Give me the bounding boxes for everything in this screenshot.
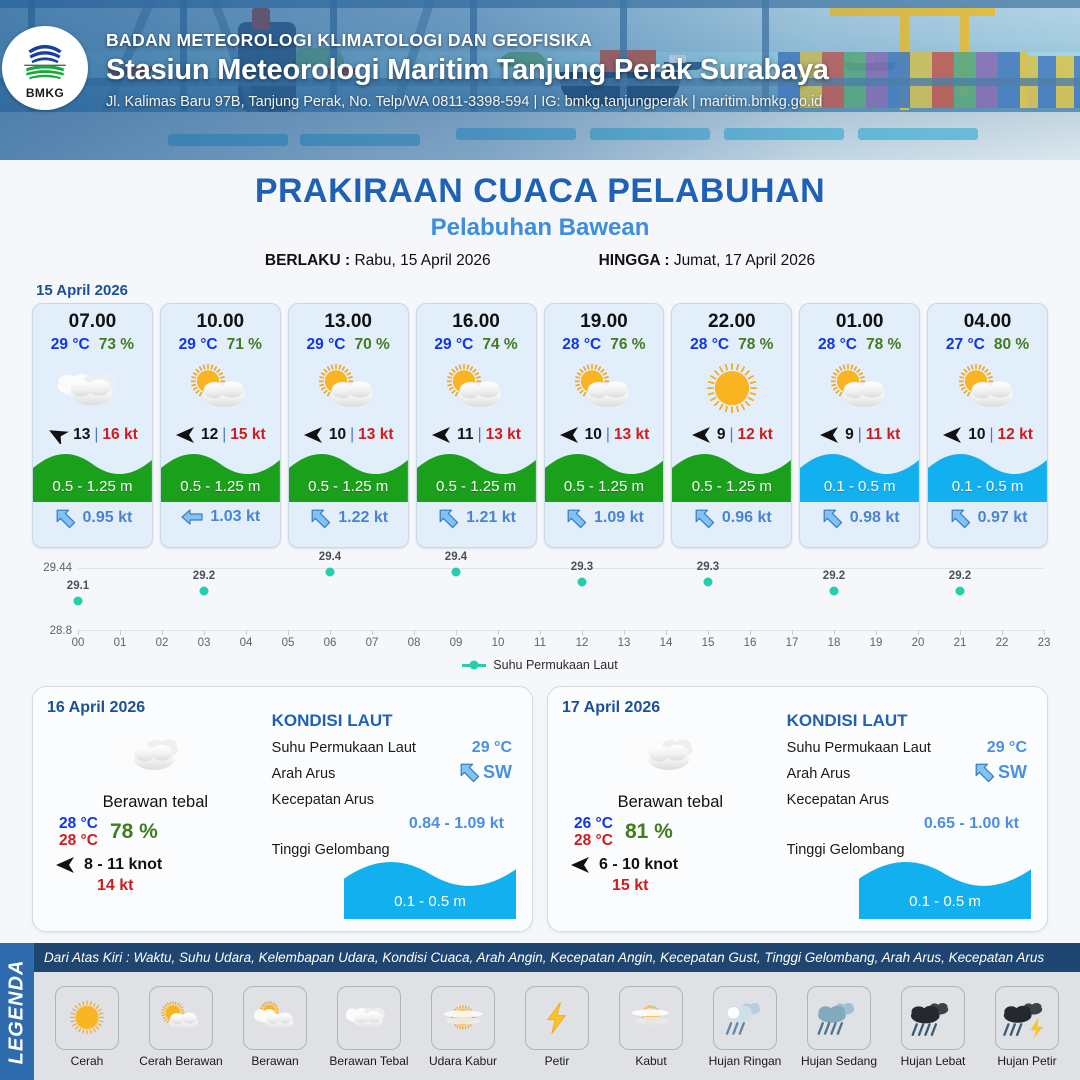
daily-temperature-humidity: 26 °C 28 °C 81 % xyxy=(562,815,779,850)
chart-x-tick-label: 15 xyxy=(702,637,715,649)
humidity: 73 % xyxy=(99,336,134,354)
legend-item-label: Hujan Petir xyxy=(984,1054,1070,1068)
chart-x-tick-label: 02 xyxy=(156,637,169,649)
current-speed-row: Kecepatan Arus xyxy=(787,791,1033,809)
wind-speed: 9 xyxy=(717,426,726,444)
chart-x-axis: 0001020304050607080910111213141516171819… xyxy=(78,630,1044,656)
wind-info: 10 | 12 kt xyxy=(928,426,1047,444)
legend-item-label: Hujan Lebat xyxy=(890,1054,976,1068)
chart-x-tick-label: 07 xyxy=(366,637,379,649)
chart-x-tick xyxy=(834,630,835,635)
berawan-tebal-icon xyxy=(340,995,398,1041)
humidity: 71 % xyxy=(227,336,262,354)
daily-temp-min: 28 °C xyxy=(59,815,98,832)
daily-temp-range: 26 °C 28 °C xyxy=(574,815,613,850)
daily-gust: 15 kt xyxy=(562,877,779,895)
daily-temperature-humidity: 28 °C 28 °C 78 % xyxy=(47,815,264,850)
legend-item-label: Cerah Berawan xyxy=(138,1054,224,1068)
forecast-card: 04.00 27 °C 80 % 10 | 12 kt xyxy=(927,303,1048,548)
wave-height-block: 0.1 - 0.5 m xyxy=(800,448,919,502)
chart-gridline: 29.44 xyxy=(78,568,1044,569)
chart-x-tick-label: 14 xyxy=(660,637,673,649)
humidity: 76 % xyxy=(610,336,645,354)
daily-weather-icon xyxy=(47,723,264,785)
wind-speed: 10 xyxy=(329,426,346,444)
chart-x-tick xyxy=(204,630,205,635)
valid-from-value: Rabu, 15 April 2026 xyxy=(354,252,490,269)
wind-separator: | xyxy=(94,426,98,444)
hujan-lebat-icon xyxy=(904,995,962,1041)
air-temperature: 29 °C xyxy=(307,336,346,354)
chart-plot-area: 29.4428.829.1 29.2 29.4 29.4 29.3 29.3 2… xyxy=(78,568,1044,630)
forecast-card: 13.00 29 °C 70 % 10 | 13 kt xyxy=(288,303,409,548)
air-temperature: 29 °C xyxy=(179,336,218,354)
cerah-berawan-icon xyxy=(561,359,647,419)
chart-y-tick-label: 28.8 xyxy=(50,625,72,637)
udara-kabur-icon xyxy=(434,995,492,1041)
legend-item-label: Kabut xyxy=(608,1054,694,1068)
current-info: 0.96 kt xyxy=(672,502,791,529)
petir-icon xyxy=(528,995,586,1041)
sea-conditions-title: KONDISI LAUT xyxy=(272,711,518,731)
current-direction-arrow xyxy=(972,761,996,783)
current-speed: 0.96 kt xyxy=(722,509,772,527)
wind-separator: | xyxy=(222,426,226,444)
berawan-tebal-icon xyxy=(49,359,135,419)
page-header: BMKG BADAN METEOROLOGI KLIMATOLOGI DAN G… xyxy=(0,0,1080,160)
wind-direction-arrow xyxy=(819,426,841,444)
daily-wind: 6 - 10 knot xyxy=(562,856,779,874)
current-direction-value: SW xyxy=(972,761,1027,783)
legend-item: Hujan Sedang xyxy=(796,986,882,1068)
bmkg-logo: BMKG xyxy=(2,26,88,110)
current-speed: 0.95 kt xyxy=(83,509,133,527)
legend-sidebar: LEGENDA xyxy=(0,943,34,1080)
daily-date: 17 April 2026 xyxy=(562,699,779,717)
hujan-ringan-icon xyxy=(716,995,774,1041)
current-info: 1.21 kt xyxy=(417,502,536,529)
chart-point-dot xyxy=(956,587,965,596)
agency-name: BADAN METEOROLOGI KLIMATOLOGI DAN GEOFIS… xyxy=(106,30,829,51)
chart-point-dot xyxy=(452,567,461,576)
chart-x-tick xyxy=(960,630,961,635)
gust-speed: 16 kt xyxy=(102,426,137,444)
legend-icon-box xyxy=(619,986,683,1050)
daily-wind: 8 - 11 knot xyxy=(47,856,264,874)
current-info: 0.97 kt xyxy=(928,502,1047,529)
contact-info: Jl. Kalimas Baru 97B, Tanjung Perak, No.… xyxy=(106,94,829,110)
cerah-berawan-icon xyxy=(817,359,903,419)
chart-x-tick-label: 04 xyxy=(240,637,253,649)
current-direction-arrow xyxy=(436,507,460,529)
daily-humidity: 78 % xyxy=(110,820,158,844)
chart-x-tick-label: 05 xyxy=(282,637,295,649)
wind-info: 9 | 12 kt xyxy=(672,426,791,444)
wave-height-value: 0.1 - 0.5 m xyxy=(928,478,1047,495)
current-direction-arrow xyxy=(308,507,332,529)
chart-x-tick xyxy=(750,630,751,635)
chart-x-tick-label: 08 xyxy=(408,637,421,649)
forecast-temp-humidity: 29 °C 74 % xyxy=(417,336,536,354)
wave-height-block: 0.5 - 1.25 m xyxy=(161,448,280,502)
legend-item: Berawan Tebal xyxy=(326,986,412,1068)
legend-item: Hujan Ringan xyxy=(702,986,788,1068)
current-info: 1.22 kt xyxy=(289,502,408,529)
wave-height-block: 0.5 - 1.25 m xyxy=(417,448,536,502)
title-section: PRAKIRAAN CUACA PELABUHAN Pelabuhan Bawe… xyxy=(0,160,1080,270)
wind-info: 12 | 15 kt xyxy=(161,426,280,444)
chart-x-tick-label: 00 xyxy=(72,637,85,649)
current-direction-arrow xyxy=(948,507,972,529)
legend-item: Udara Kabur xyxy=(420,986,506,1068)
wind-direction-arrow xyxy=(431,426,453,444)
legend-icon-box xyxy=(55,986,119,1050)
air-temperature: 29 °C xyxy=(434,336,473,354)
legend-item: Petir xyxy=(514,986,600,1068)
weather-condition-icon xyxy=(545,358,664,420)
chart-legend: Suhu Permukaan Laut xyxy=(22,658,1058,672)
daily-sea-conditions: KONDISI LAUT Suhu Permukaan Laut 29 °C A… xyxy=(779,699,1033,919)
chart-legend-label: Suhu Permukaan Laut xyxy=(493,658,617,672)
daily-wind-value: 8 - 11 knot xyxy=(84,856,162,874)
current-direction-text: SW xyxy=(998,762,1027,783)
chart-point-dot xyxy=(830,587,839,596)
forecast-temp-humidity: 29 °C 70 % xyxy=(289,336,408,354)
sst-row: Suhu Permukaan Laut 29 °C xyxy=(272,739,518,757)
legend-section: LEGENDA Dari Atas Kiri : Waktu, Suhu Uda… xyxy=(0,943,1080,1080)
legend-item: Hujan Lebat xyxy=(890,986,976,1068)
daily-temp-range: 28 °C 28 °C xyxy=(59,815,98,850)
chart-x-tick-label: 17 xyxy=(786,637,799,649)
humidity: 80 % xyxy=(994,336,1029,354)
legend-icon-box xyxy=(713,986,777,1050)
valid-from-label: BERLAKU : xyxy=(265,252,350,269)
chart-point-dot xyxy=(326,567,335,576)
chart-point-label: 29.4 xyxy=(445,551,467,563)
wind-separator: | xyxy=(478,426,482,444)
air-temperature: 28 °C xyxy=(562,336,601,354)
chart-x-tick xyxy=(330,630,331,635)
chart-x-tick xyxy=(582,630,583,635)
chart-point-dot xyxy=(704,577,713,586)
current-direction-row: Arah Arus SW xyxy=(272,765,518,783)
forecast-card: 01.00 28 °C 78 % 9 | 11 kt xyxy=(799,303,920,548)
current-direction-arrow xyxy=(820,507,844,529)
daily-wind-value: 6 - 10 knot xyxy=(599,856,678,874)
wind-speed: 12 xyxy=(201,426,218,444)
wind-speed: 10 xyxy=(585,426,602,444)
hujan-petir-icon xyxy=(998,995,1056,1041)
chart-x-tick-label: 01 xyxy=(114,637,127,649)
chart-point-label: 29.2 xyxy=(193,570,215,582)
gust-speed: 15 kt xyxy=(230,426,265,444)
current-direction-row: Arah Arus SW xyxy=(787,765,1033,783)
forecast-time: 07.00 xyxy=(33,304,152,333)
chart-x-tick xyxy=(498,630,499,635)
legend-icon-box xyxy=(525,986,589,1050)
wave-height-block: 0.5 - 1.25 m xyxy=(289,448,408,502)
legend-icon-box xyxy=(243,986,307,1050)
current-speed-label: Kecepatan Arus xyxy=(787,792,889,808)
legend-item-label: Hujan Ringan xyxy=(702,1054,788,1068)
air-temperature: 27 °C xyxy=(946,336,985,354)
current-direction-arrow xyxy=(180,507,204,527)
chart-x-tick-label: 20 xyxy=(912,637,925,649)
gust-speed: 13 kt xyxy=(486,426,521,444)
bmkg-logo-mark xyxy=(19,37,71,85)
legend-item: Hujan Petir xyxy=(984,986,1070,1068)
forecast-time: 19.00 xyxy=(545,304,664,333)
daily-wave-value: 0.1 - 0.5 m xyxy=(344,893,516,910)
sst-chart: 29.4428.829.1 29.2 29.4 29.4 29.3 29.3 2… xyxy=(22,558,1058,678)
current-speed: 1.09 kt xyxy=(594,509,644,527)
legend-item-label: Berawan Tebal xyxy=(326,1054,412,1068)
wind-direction-arrow xyxy=(570,856,592,874)
current-direction-label: Arah Arus xyxy=(272,766,336,782)
wave-height-value: 0.5 - 1.25 m xyxy=(161,478,280,495)
forecast-temp-humidity: 28 °C 78 % xyxy=(800,336,919,354)
wind-direction-arrow xyxy=(691,426,713,444)
gust-speed: 12 kt xyxy=(737,426,772,444)
weather-condition-icon xyxy=(289,358,408,420)
legend-sidebar-title: LEGENDA xyxy=(6,959,29,1064)
berawan-tebal-icon xyxy=(627,725,713,783)
chart-x-tick-label: 11 xyxy=(534,637,546,649)
validity-row: BERLAKU : Rabu, 15 April 2026 HINGGA : J… xyxy=(0,252,1080,270)
kabut-icon xyxy=(622,995,680,1041)
gust-speed: 12 kt xyxy=(998,426,1033,444)
daily-temp-max: 28 °C xyxy=(574,832,613,849)
station-name: Stasiun Meteorologi Maritim Tanjung Pera… xyxy=(106,54,829,87)
forecast-time: 10.00 xyxy=(161,304,280,333)
wind-info: 10 | 13 kt xyxy=(545,426,664,444)
chart-x-tick-label: 12 xyxy=(576,637,589,649)
forecast-time: 04.00 xyxy=(928,304,1047,333)
legend-item-label: Berawan xyxy=(232,1054,318,1068)
wind-direction-arrow xyxy=(942,426,964,444)
chart-point-label: 29.2 xyxy=(823,570,845,582)
sst-row: Suhu Permukaan Laut 29 °C xyxy=(787,739,1033,757)
chart-legend-marker xyxy=(462,664,486,667)
chart-x-tick-label: 22 xyxy=(996,637,1009,649)
forecast-date-label: 15 April 2026 xyxy=(36,282,1080,299)
chart-x-tick xyxy=(372,630,373,635)
chart-point-label: 29.3 xyxy=(697,561,719,573)
cerah-icon xyxy=(689,359,775,419)
forecast-time: 01.00 xyxy=(800,304,919,333)
weather-condition-icon xyxy=(33,358,152,420)
chart-x-tick xyxy=(162,630,163,635)
wave-height-block: 0.5 - 1.25 m xyxy=(33,448,152,502)
forecast-temp-humidity: 28 °C 76 % xyxy=(545,336,664,354)
legend-item-label: Hujan Sedang xyxy=(796,1054,882,1068)
forecast-card: 10.00 29 °C 71 % 12 | 15 kt xyxy=(160,303,281,548)
weather-condition-icon xyxy=(417,358,536,420)
berawan-tebal-icon xyxy=(112,725,198,783)
wind-separator: | xyxy=(350,426,354,444)
wind-info: 13 | 16 kt xyxy=(33,426,152,444)
cerah-berawan-icon xyxy=(305,359,391,419)
daily-condition: Berawan tebal xyxy=(562,793,779,812)
wind-separator: | xyxy=(990,426,994,444)
forecast-card: 16.00 29 °C 74 % 11 | 13 kt xyxy=(416,303,537,548)
legend-item: Cerah Berawan xyxy=(138,986,224,1068)
forecast-time: 16.00 xyxy=(417,304,536,333)
current-info: 1.09 kt xyxy=(545,502,664,529)
chart-x-tick-label: 19 xyxy=(870,637,883,649)
sst-value: 29 °C xyxy=(472,739,512,757)
forecast-temp-humidity: 29 °C 71 % xyxy=(161,336,280,354)
chart-x-tick xyxy=(876,630,877,635)
bmkg-logo-text: BMKG xyxy=(26,86,64,100)
forecast-temp-humidity: 27 °C 80 % xyxy=(928,336,1047,354)
wave-height-value: 0.5 - 1.25 m xyxy=(545,478,664,495)
current-speed-value: 0.84 - 1.09 kt xyxy=(272,815,518,833)
valid-to-value: Jumat, 17 April 2026 xyxy=(674,252,815,269)
legend-icon-box xyxy=(995,986,1059,1050)
cerah-berawan-icon xyxy=(433,359,519,419)
humidity: 78 % xyxy=(738,336,773,354)
forecast-card-list: 07.00 29 °C 73 % 13 | xyxy=(0,303,1080,548)
valid-to-label: HINGGA : xyxy=(599,252,670,269)
legend-main: Dari Atas Kiri : Waktu, Suhu Udara, Kele… xyxy=(34,943,1080,1080)
chart-point-dot xyxy=(74,596,83,605)
wind-direction-arrow xyxy=(303,426,325,444)
wind-direction-arrow xyxy=(175,426,197,444)
port-name: Pelabuhan Bawean xyxy=(0,214,1080,242)
daily-temp-min: 26 °C xyxy=(574,815,613,832)
daily-condition: Berawan tebal xyxy=(47,793,264,812)
wind-info: 10 | 13 kt xyxy=(289,426,408,444)
current-direction-value: SW xyxy=(457,761,512,783)
valid-from: BERLAKU : Rabu, 15 April 2026 xyxy=(265,252,491,270)
daily-humidity: 81 % xyxy=(625,820,673,844)
chart-point-label: 29.2 xyxy=(949,570,971,582)
humidity: 74 % xyxy=(482,336,517,354)
forecast-temp-humidity: 28 °C 78 % xyxy=(672,336,791,354)
weather-condition-icon xyxy=(800,358,919,420)
forecast-time: 13.00 xyxy=(289,304,408,333)
wind-speed: 13 xyxy=(73,426,90,444)
chart-point-label: 29.4 xyxy=(319,551,341,563)
air-temperature: 29 °C xyxy=(51,336,90,354)
wave-height-value: 0.5 - 1.25 m xyxy=(672,478,791,495)
gust-speed: 13 kt xyxy=(614,426,649,444)
forecast-card: 07.00 29 °C 73 % 13 | xyxy=(32,303,153,548)
wave-height-value: 0.5 - 1.25 m xyxy=(289,478,408,495)
wind-info: 11 | 13 kt xyxy=(417,426,536,444)
chart-x-tick-label: 06 xyxy=(324,637,337,649)
current-direction-arrow xyxy=(692,507,716,529)
chart-x-tick xyxy=(78,630,79,635)
sst-label: Suhu Permukaan Laut xyxy=(272,740,416,756)
gust-speed: 11 kt xyxy=(866,426,900,444)
chart-x-tick xyxy=(456,630,457,635)
wind-separator: | xyxy=(606,426,610,444)
current-speed: 0.98 kt xyxy=(850,509,900,527)
chart-x-tick xyxy=(918,630,919,635)
wave-height-value: 0.1 - 0.5 m xyxy=(800,478,919,495)
valid-to: HINGGA : Jumat, 17 April 2026 xyxy=(599,252,816,270)
legend-note: Dari Atas Kiri : Waktu, Suhu Udara, Kele… xyxy=(34,943,1080,972)
hujan-sedang-icon xyxy=(810,995,868,1041)
daily-date: 16 April 2026 xyxy=(47,699,264,717)
daily-sea-conditions: KONDISI LAUT Suhu Permukaan Laut 29 °C A… xyxy=(264,699,518,919)
air-temperature: 28 °C xyxy=(690,336,729,354)
daily-summary-panel: 17 April 2026 Berawan tebal 26 °C 28 °C xyxy=(547,686,1048,932)
daily-weather-icon xyxy=(562,723,779,785)
daily-summary-panel: 16 April 2026 Berawan tebal 28 °C 28 °C xyxy=(32,686,533,932)
chart-x-tick xyxy=(1002,630,1003,635)
wind-speed: 9 xyxy=(845,426,854,444)
daily-wave-graphic: 0.1 - 0.5 m xyxy=(859,855,1031,919)
chart-x-tick xyxy=(120,630,121,635)
legend-icon-box xyxy=(807,986,871,1050)
current-speed-row: Kecepatan Arus xyxy=(272,791,518,809)
current-speed: 1.22 kt xyxy=(338,509,388,527)
wind-speed: 10 xyxy=(968,426,985,444)
chart-x-tick-label: 16 xyxy=(744,637,757,649)
wave-height-block: 0.5 - 1.25 m xyxy=(545,448,664,502)
chart-x-tick xyxy=(708,630,709,635)
gust-speed: 13 kt xyxy=(358,426,393,444)
chart-x-tick-label: 13 xyxy=(618,637,631,649)
legend-item: Kabut xyxy=(608,986,694,1068)
chart-point-dot xyxy=(578,577,587,586)
cerah-berawan-icon xyxy=(945,359,1031,419)
legend-icon-box xyxy=(149,986,213,1050)
current-speed-value: 0.65 - 1.00 kt xyxy=(787,815,1033,833)
wave-height-block: 0.5 - 1.25 m xyxy=(672,448,791,502)
chart-x-tick xyxy=(792,630,793,635)
chart-x-tick xyxy=(666,630,667,635)
daily-gust: 14 kt xyxy=(47,877,264,895)
legend-icon-box xyxy=(901,986,965,1050)
current-direction-arrow xyxy=(564,507,588,529)
chart-x-tick xyxy=(624,630,625,635)
chart-point-label: 29.1 xyxy=(67,580,89,592)
chart-x-tick-label: 18 xyxy=(828,637,841,649)
wave-height-value: 0.5 - 1.25 m xyxy=(417,478,536,495)
daily-temp-max: 28 °C xyxy=(59,832,98,849)
legend-item-label: Cerah xyxy=(44,1054,130,1068)
cerah-berawan-icon xyxy=(152,995,210,1041)
chart-x-tick-label: 10 xyxy=(492,637,505,649)
forecast-temp-humidity: 29 °C 73 % xyxy=(33,336,152,354)
chart-x-tick xyxy=(540,630,541,635)
current-direction-arrow xyxy=(53,507,77,529)
daily-wave-graphic: 0.1 - 0.5 m xyxy=(344,855,516,919)
legend-item-label: Udara Kabur xyxy=(420,1054,506,1068)
chart-x-tick-label: 23 xyxy=(1038,637,1051,649)
daily-left-column: 17 April 2026 Berawan tebal 26 °C 28 °C xyxy=(562,699,779,919)
wave-height-block: 0.1 - 0.5 m xyxy=(928,448,1047,502)
legend-item-label: Petir xyxy=(514,1054,600,1068)
chart-y-tick-label: 29.44 xyxy=(43,562,72,574)
current-speed: 0.97 kt xyxy=(978,509,1028,527)
wind-direction-arrow xyxy=(55,856,77,874)
wind-info: 9 | 11 kt xyxy=(800,426,919,444)
daily-left-column: 16 April 2026 Berawan tebal 28 °C 28 °C xyxy=(47,699,264,919)
page-title: PRAKIRAAN CUACA PELABUHAN xyxy=(0,172,1080,211)
current-direction-text: SW xyxy=(483,762,512,783)
wind-separator: | xyxy=(858,426,862,444)
cerah-icon xyxy=(58,995,116,1041)
chart-x-tick xyxy=(1044,630,1045,635)
chart-x-tick-label: 03 xyxy=(198,637,211,649)
cerah-berawan-icon xyxy=(177,359,263,419)
forecast-card: 22.00 28 °C 78 % 9 | 12 kt 0.5 - 1.25 m xyxy=(671,303,792,548)
